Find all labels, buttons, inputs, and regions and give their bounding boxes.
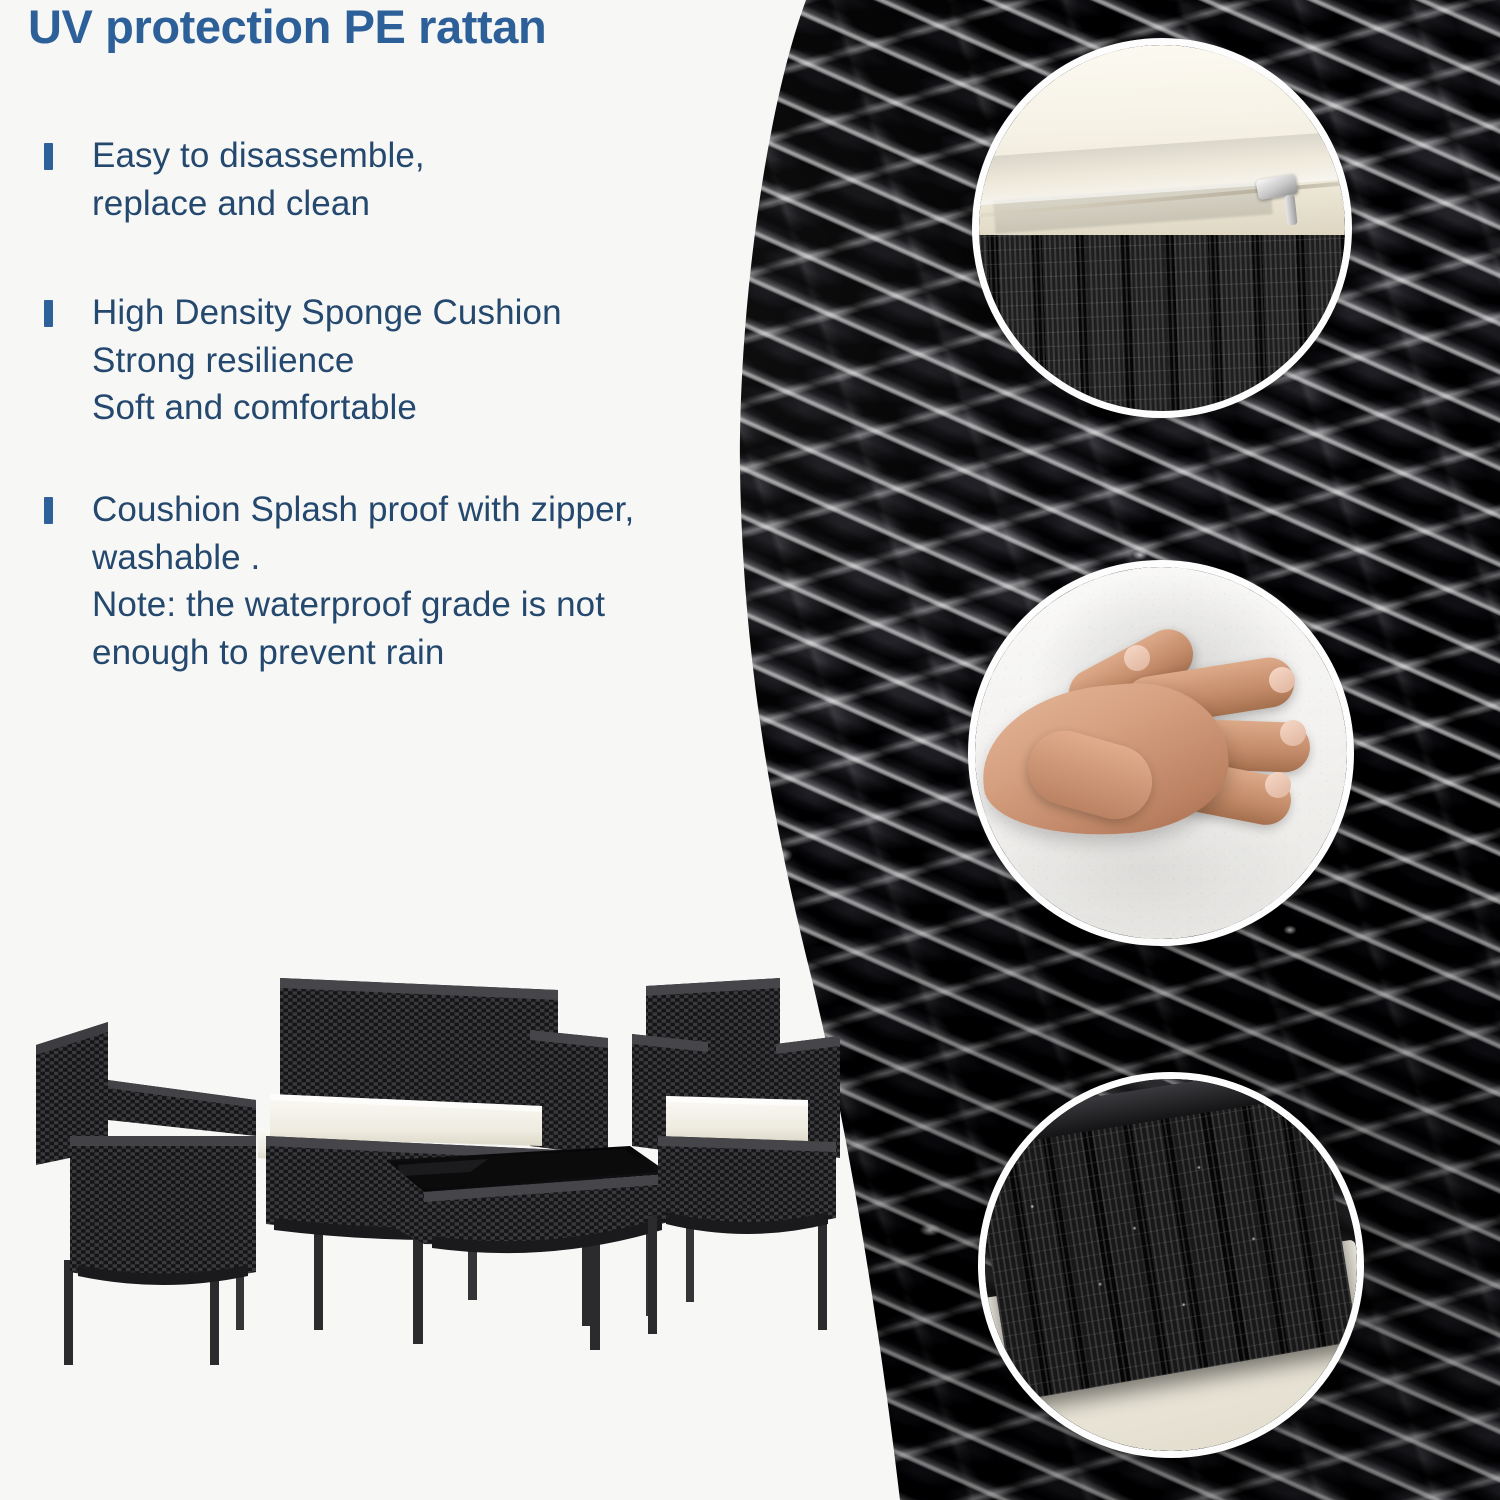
fingernail: [1280, 720, 1306, 746]
bullet-line: replace and clean: [92, 180, 740, 228]
bullet-line: enough to prevent rain: [92, 629, 740, 677]
square-bullet-icon: [44, 143, 53, 170]
square-bullet-icon: [44, 497, 53, 524]
poster-canvas: UV protection PE rattan Easy to disassem…: [0, 0, 1500, 1500]
bullet-text: High Density Sponge Cushion Strong resil…: [92, 289, 740, 432]
bullet-line: Coushion Splash proof with zipper,: [92, 486, 740, 534]
rattan-weave-detail: [979, 213, 1345, 411]
bullet-line: washable .: [92, 534, 740, 582]
text-panel: UV protection PE rattan Easy to disassem…: [0, 0, 790, 1500]
chair-leg: [818, 1212, 827, 1330]
inset-hand-foam-image: [975, 567, 1347, 939]
inset-rattan-panel: [978, 1072, 1364, 1458]
bullet-line: Soft and comfortable: [92, 384, 740, 432]
bullet-line: Note: the waterproof grade is not: [92, 581, 740, 629]
inset-rattan-panel-image: [985, 1079, 1357, 1451]
bullet-line: Strong resilience: [92, 337, 740, 385]
bullet-text: Easy to disassemble, replace and clean: [92, 132, 740, 227]
bullet-text: Coushion Splash proof with zipper, washa…: [92, 486, 740, 676]
list-item: Easy to disassemble, replace and clean: [0, 132, 740, 227]
fingernail: [1124, 645, 1150, 671]
feature-bullet-list: Easy to disassemble, replace and clean H…: [0, 132, 740, 724]
inset-cushion-zipper: [972, 38, 1352, 418]
inset-hand-foam: [968, 560, 1354, 946]
list-item: Coushion Splash proof with zipper, washa…: [0, 486, 740, 676]
fingernail: [1265, 772, 1291, 798]
inset-cushion-zipper-image: [979, 45, 1345, 411]
bullet-line: High Density Sponge Cushion: [92, 289, 740, 337]
bullet-line: Easy to disassemble,: [92, 132, 740, 180]
square-bullet-icon: [44, 300, 53, 327]
page-title: UV protection PE rattan: [28, 2, 748, 51]
list-item: High Density Sponge Cushion Strong resil…: [0, 289, 740, 432]
